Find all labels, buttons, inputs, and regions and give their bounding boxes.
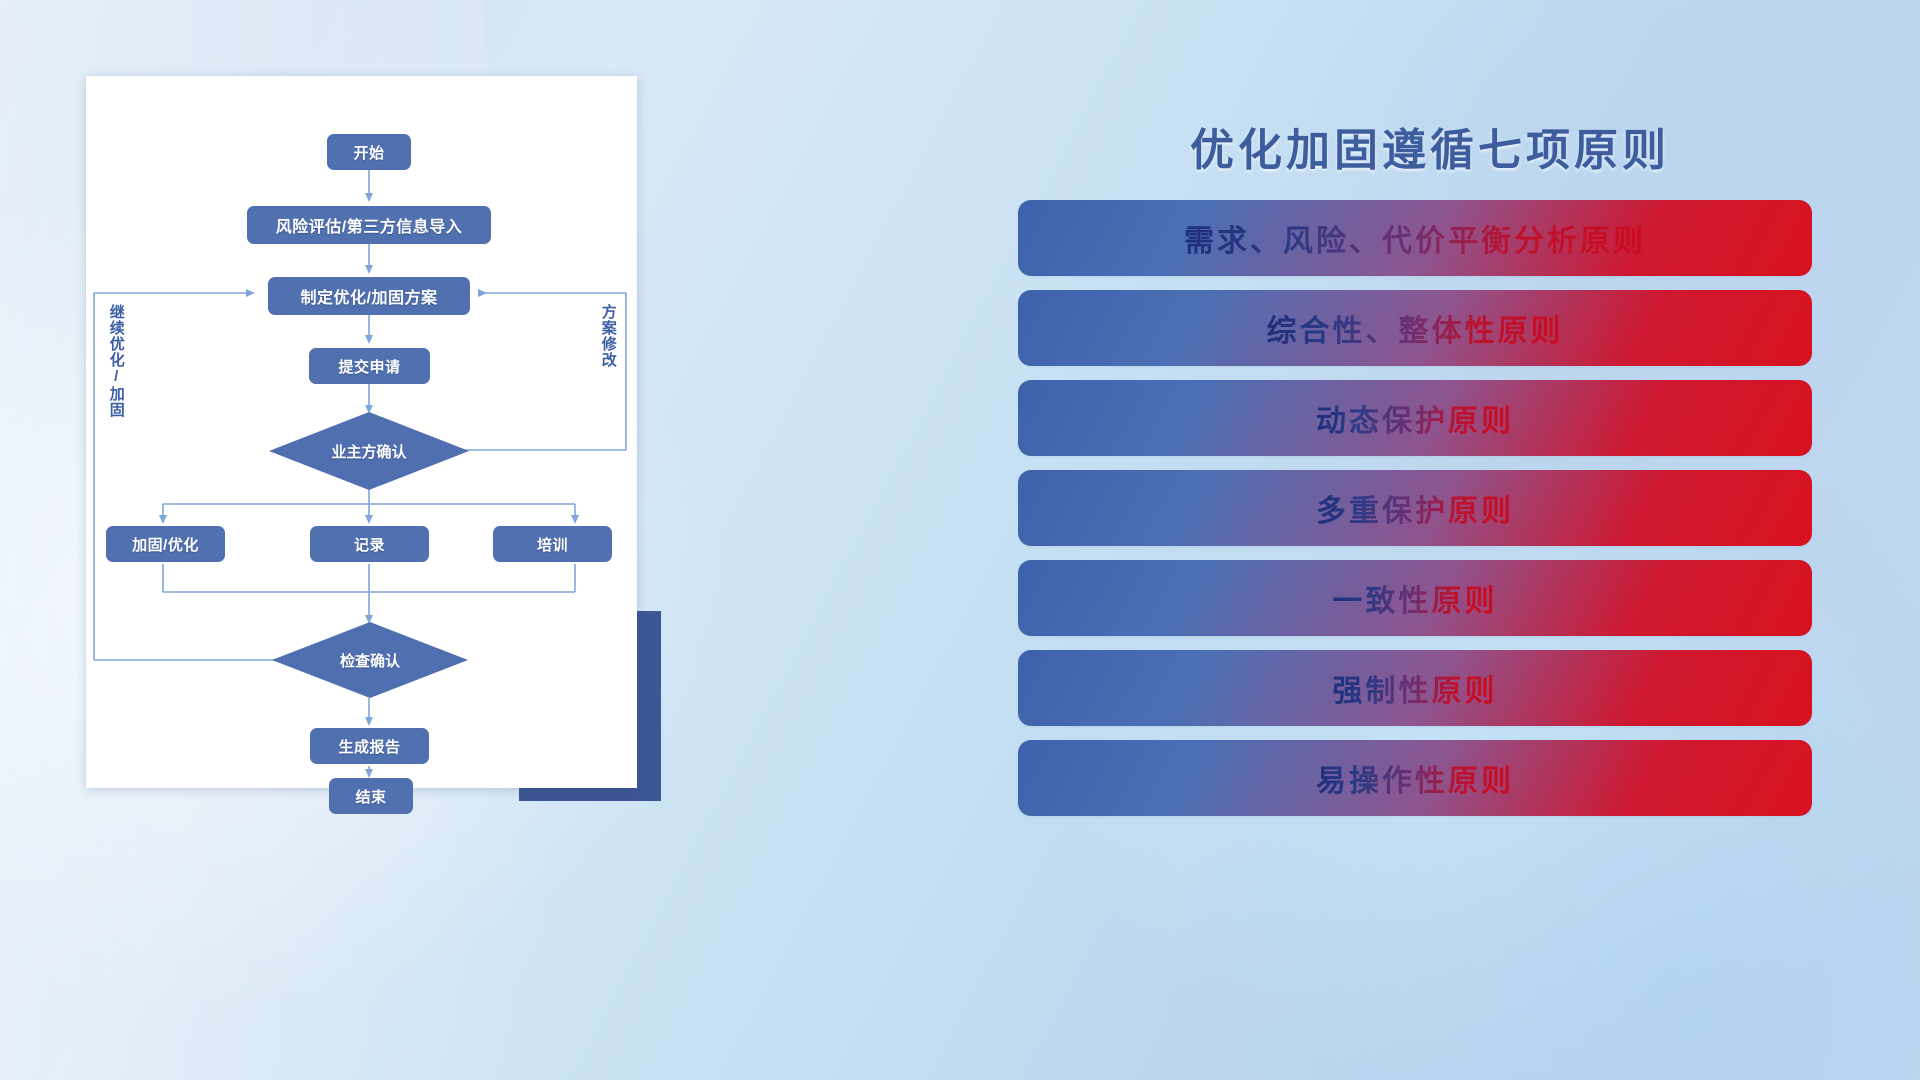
panel-title: 优化加固遵循七项原则 [1150,114,1710,178]
principle-item[interactable]: 需求、风险、代价平衡分析原则 [1020,202,1810,274]
principles-panel: 优化加固遵循七项原则 需求、风险、代价平衡分析原则 综合性、整体性原则 动态保护… [1020,90,1830,1010]
flow-node-start[interactable]: 开始 [327,134,411,170]
flow-edge-label-continue-optimize: 继续优化/加固 [108,304,124,434]
principle-label: 多重保护原则 [1316,486,1514,530]
principle-label: 易操作性原则 [1316,756,1514,800]
flow-node-training[interactable]: 培训 [493,526,612,562]
principle-item[interactable]: 易操作性原则 [1020,742,1810,814]
principle-label: 需求、风险、代价平衡分析原则 [1184,216,1646,260]
principle-item[interactable]: 综合性、整体性原则 [1020,292,1810,364]
principle-item[interactable]: 强制性原则 [1020,652,1810,724]
slide-canvas: 开始 风险评估/第三方信息导入 制定优化/加固方案 提交申请 业主方确认 加固/… [0,0,1920,1080]
flowchart-card: 开始 风险评估/第三方信息导入 制定优化/加固方案 提交申请 业主方确认 加固/… [86,76,637,788]
flow-edge-label-plan-revision: 方案修改 [600,304,616,414]
principle-label: 动态保护原则 [1316,396,1514,440]
principle-label: 综合性、整体性原则 [1267,306,1564,350]
flow-node-end[interactable]: 结束 [329,778,413,814]
flow-node-risk-assessment[interactable]: 风险评估/第三方信息导入 [247,206,491,244]
principle-item[interactable]: 多重保护原则 [1020,472,1810,544]
flow-node-plan[interactable]: 制定优化/加固方案 [268,277,470,315]
flow-node-submit-application[interactable]: 提交申请 [309,348,430,384]
principle-list: 需求、风险、代价平衡分析原则 综合性、整体性原则 动态保护原则 多重保护原则 一… [1020,202,1810,832]
flow-node-reinforce-optimize[interactable]: 加固/优化 [106,526,225,562]
principle-item[interactable]: 一致性原则 [1020,562,1810,634]
flow-node-record[interactable]: 记录 [310,526,429,562]
principle-label: 一致性原则 [1333,576,1498,620]
flow-node-generate-report[interactable]: 生成报告 [310,728,429,764]
principle-label: 强制性原则 [1333,666,1498,710]
principle-item[interactable]: 动态保护原则 [1020,382,1810,454]
